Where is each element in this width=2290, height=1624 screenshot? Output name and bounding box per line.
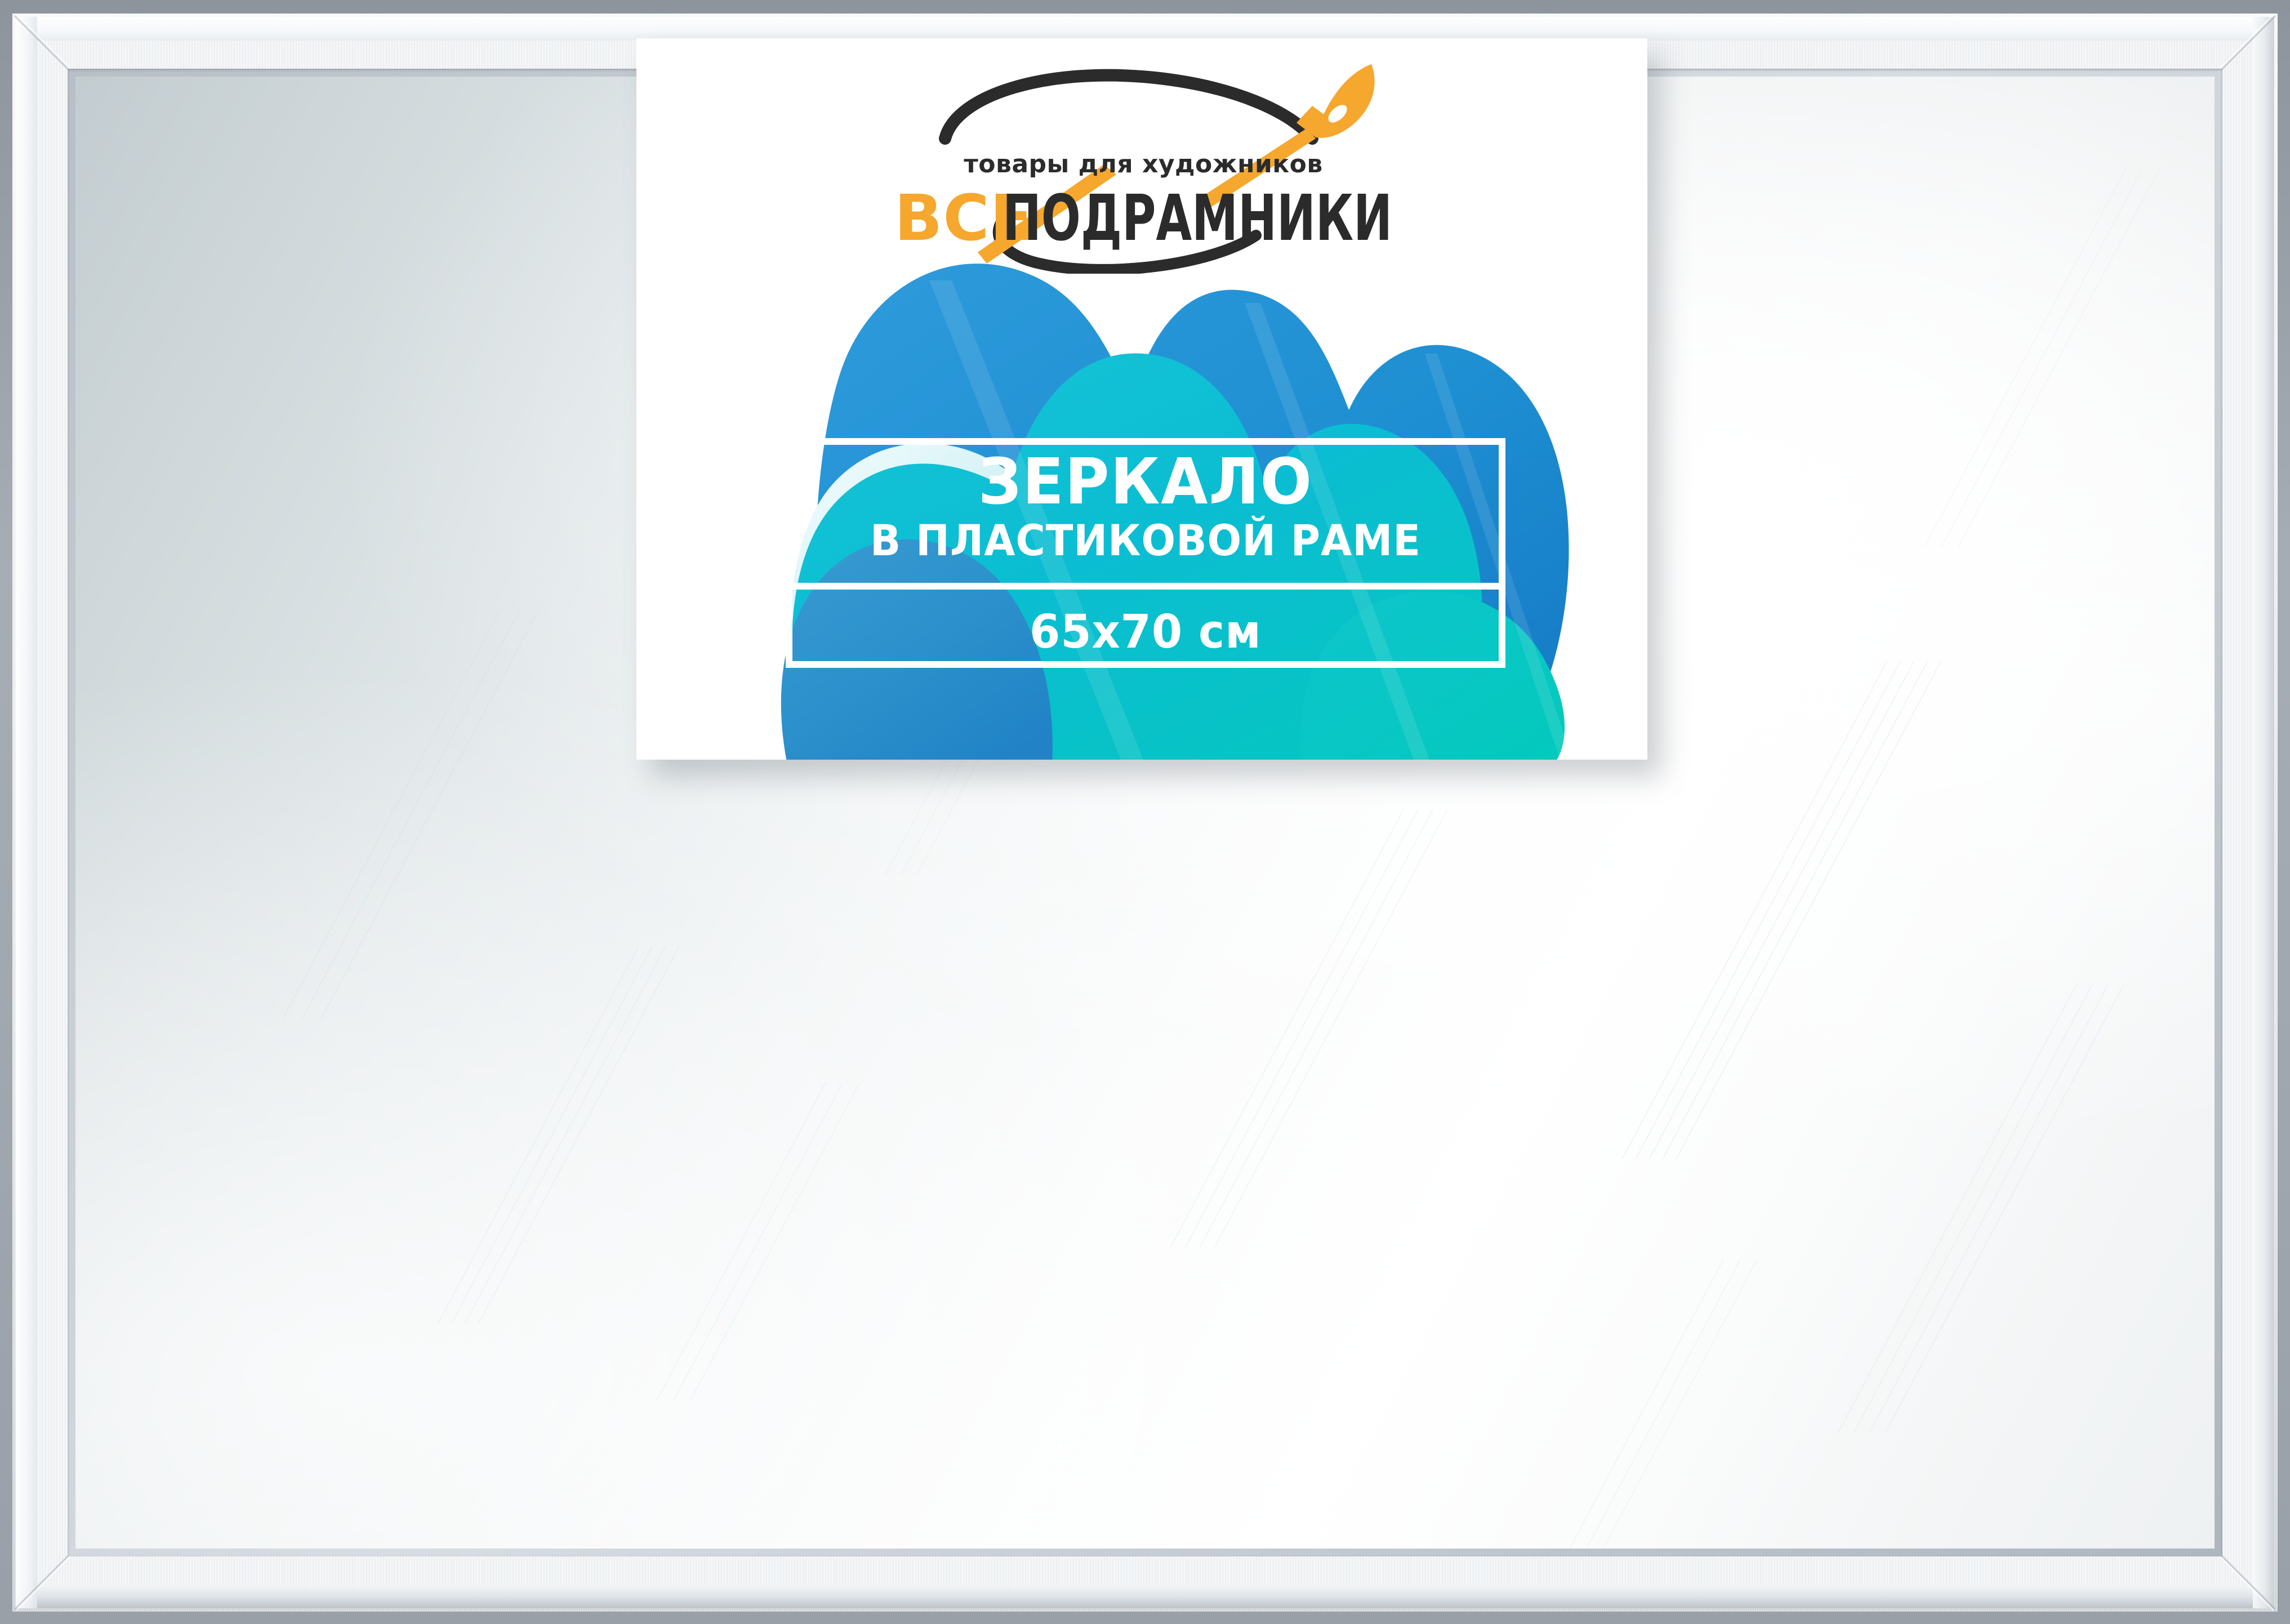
frame-bevel-right (2253, 17, 2274, 1608)
product-photo: товары для художников ВСЕ ПОДРАМНИКИ ЗЕР… (0, 0, 2290, 1624)
text-box-divider (792, 583, 1499, 590)
label-text-box: ЗЕРКАЛО В ПЛАСТИКОВОЙ РАМЕ 65x70 см (786, 438, 1505, 668)
frame-bevel-left (16, 17, 37, 1608)
frame-bevel-bottom (16, 1586, 2274, 1608)
product-headline: ЗЕРКАЛО (807, 450, 1485, 514)
product-size: 65x70 см (810, 608, 1481, 657)
product-label-card: товары для художников ВСЕ ПОДРАМНИКИ ЗЕР… (636, 38, 1647, 760)
brand-logo: товары для художников ВСЕ ПОДРАМНИКИ (862, 54, 1425, 274)
brand-name-dark: ПОДРАМНИКИ (1003, 182, 1392, 255)
brand-tagline: товары для художников (964, 150, 1322, 179)
product-subhead: В ПЛАСТИКОВОЙ РАМЕ (814, 518, 1478, 563)
frame-bevel-top (16, 17, 2274, 41)
